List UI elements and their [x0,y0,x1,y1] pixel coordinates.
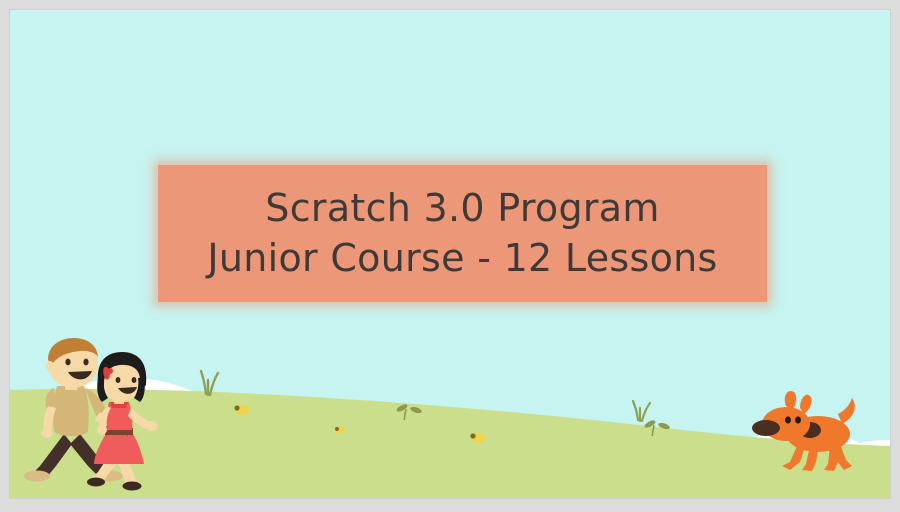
dog-figure [752,391,855,471]
cloud-hill-band [10,338,890,498]
hair-bow-icon [103,367,113,380]
character-group [10,338,890,498]
flower-icon [234,405,249,415]
leaf-sprig-icon [395,403,422,420]
flower-icon [335,426,345,433]
flower-icon [470,433,485,443]
slide-frame: Scratch 3.0 Program Junior Course - 12 L… [0,0,900,512]
leaf-sprig-icon [643,419,670,436]
title-line-1: Scratch 3.0 Program [265,184,659,233]
title-line-2: Junior Course - 12 Lessons [207,234,717,283]
slide-canvas: Scratch 3.0 Program Junior Course - 12 L… [10,10,890,498]
grass-details [10,368,890,498]
grass-tuft-icon [201,371,218,395]
boy-figure [24,338,127,482]
ground-hill [10,368,890,498]
grass-tuft-icon [633,401,650,421]
title-box: Scratch 3.0 Program Junior Course - 12 L… [158,165,767,302]
girl-figure [87,352,158,491]
